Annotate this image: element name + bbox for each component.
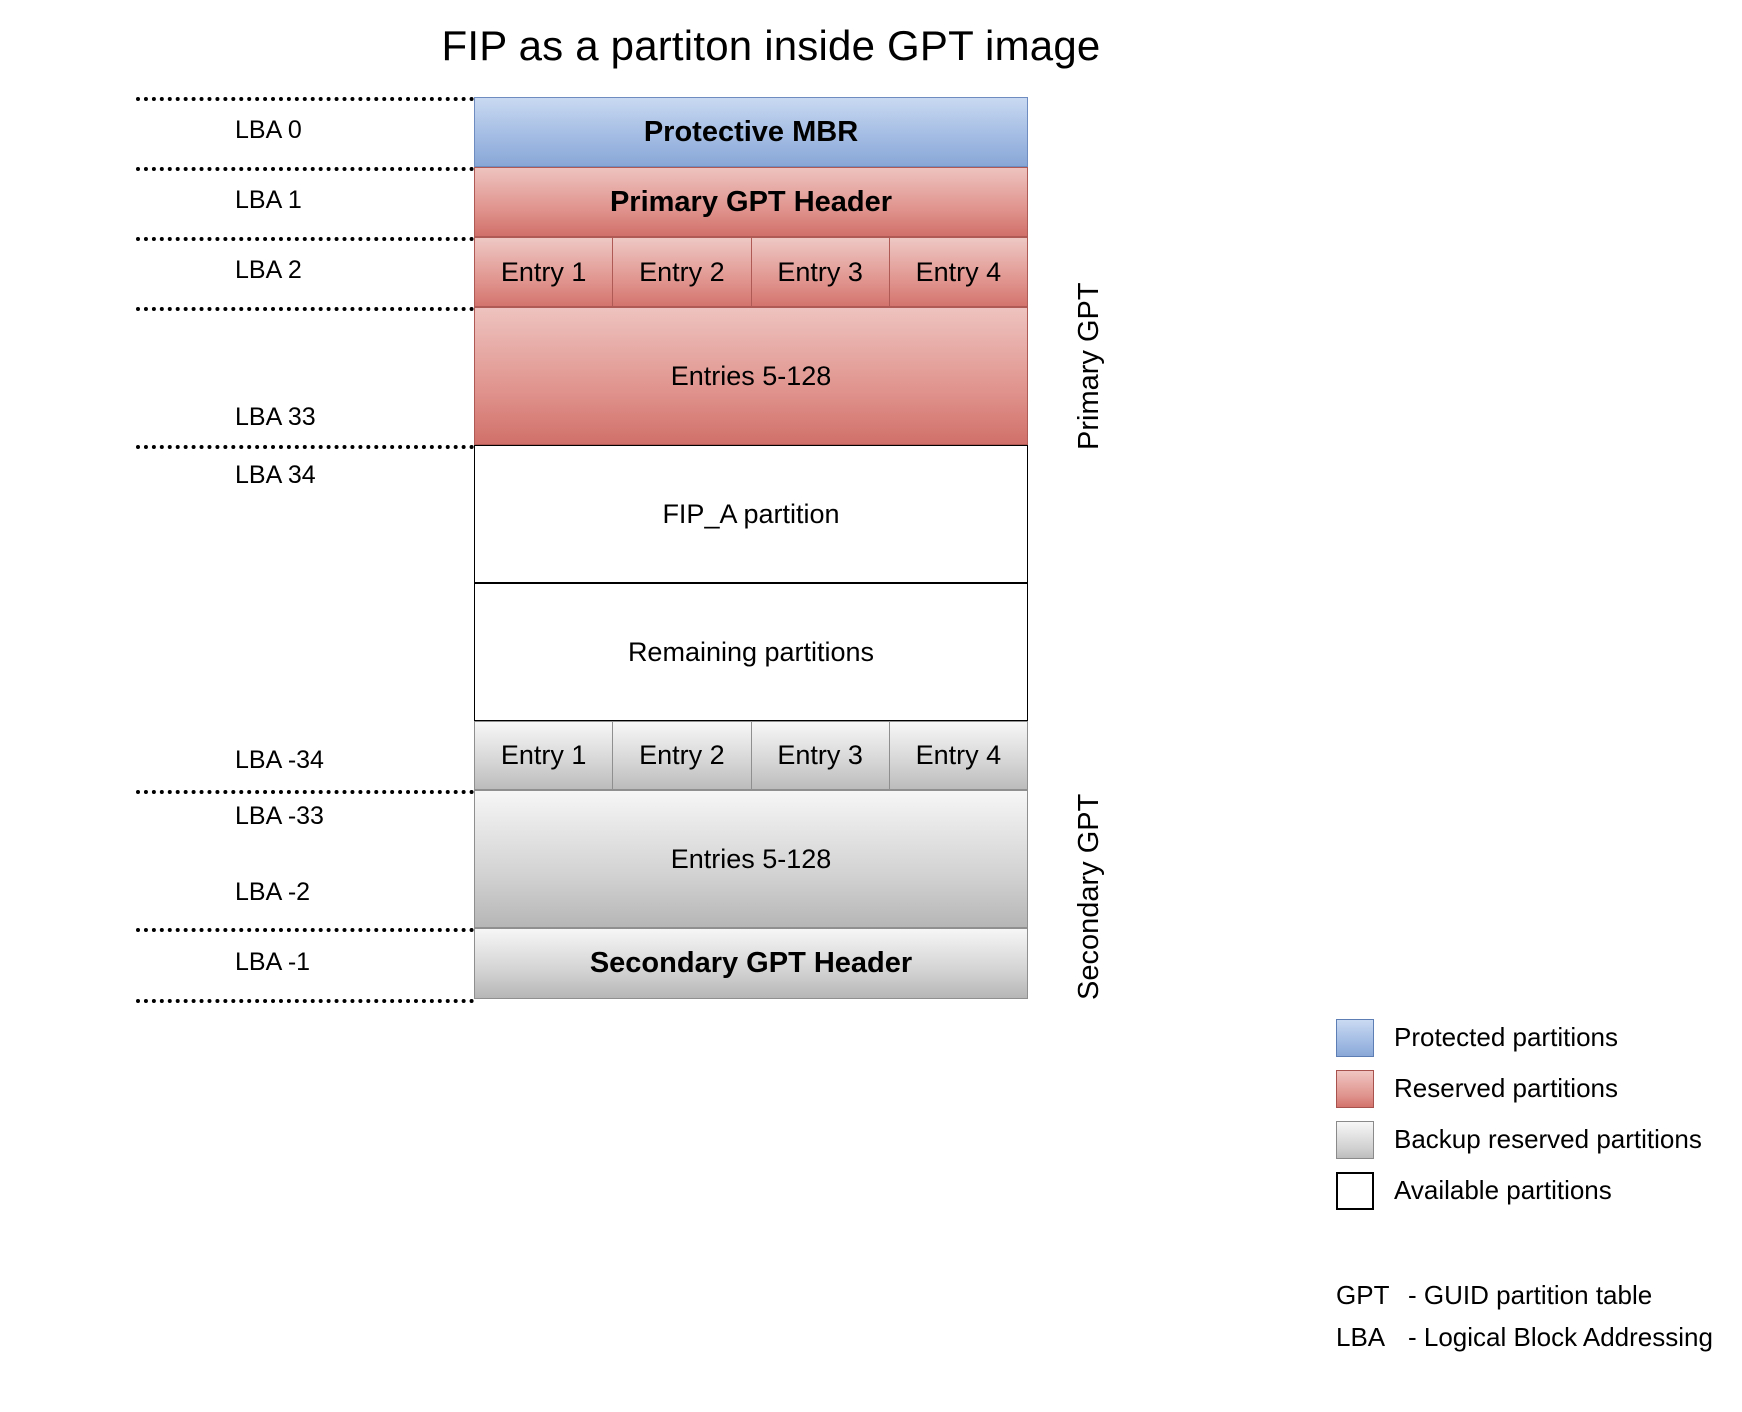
dotted-guide-line-3	[136, 307, 474, 311]
legend-swatch	[1336, 1172, 1374, 1210]
block-primary-gpt-header: Primary GPT Header	[474, 167, 1028, 237]
block-primary-entries-5-128: Entries 5-128	[474, 307, 1028, 445]
lba-label: LBA -2	[235, 880, 310, 905]
abbreviation-value: - GUID partition table	[1408, 1280, 1652, 1311]
entry-cell: Entry 4	[889, 721, 1028, 790]
dotted-guide-line-7	[136, 999, 474, 1003]
abbreviation-key: GPT	[1336, 1280, 1408, 1311]
dotted-guide-line-6	[136, 928, 474, 932]
block-secondary-entries-5-128: Entries 5-128	[474, 790, 1028, 928]
lba-label: LBA -1	[235, 950, 310, 975]
entry-cell: Entry 4	[889, 237, 1028, 307]
abbreviation-row: GPT- GUID partition table	[1336, 1274, 1713, 1316]
diagram-canvas: FIP as a partiton inside GPT image LBA 0…	[0, 0, 1742, 1412]
page-title: FIP as a partiton inside GPT image	[0, 22, 1542, 70]
dotted-guide-line-5	[136, 790, 474, 794]
legend-item: Protected partitions	[1336, 1012, 1702, 1063]
lba-label: LBA 2	[235, 258, 302, 283]
legend-swatch	[1336, 1019, 1374, 1057]
entry-cell: Entry 2	[612, 237, 750, 307]
entry-cell: Entry 3	[751, 237, 889, 307]
lba-label: LBA -33	[235, 804, 324, 829]
legend-label: Available partitions	[1394, 1175, 1612, 1206]
legend-label: Reserved partitions	[1394, 1073, 1618, 1104]
abbreviation-value: - Logical Block Addressing	[1408, 1322, 1713, 1353]
lba-label: LBA 34	[235, 463, 316, 488]
legend-item: Available partitions	[1336, 1165, 1702, 1216]
lba-label: LBA 1	[235, 188, 302, 213]
entry-cell: Entry 1	[474, 721, 612, 790]
abbreviation-key: LBA	[1336, 1322, 1408, 1353]
legend-item: Backup reserved partitions	[1336, 1114, 1702, 1165]
abbreviations-list: GPT- GUID partition tableLBA- Logical Bl…	[1336, 1274, 1713, 1358]
dotted-guide-line-0	[136, 97, 474, 101]
block-protective-mbr: Protective MBR	[474, 97, 1028, 167]
abbreviation-row: LBA- Logical Block Addressing	[1336, 1316, 1713, 1358]
entry-cell: Entry 2	[612, 721, 750, 790]
legend-swatch	[1336, 1070, 1374, 1108]
block-remaining-partitions: Remaining partitions	[474, 583, 1028, 721]
primary-entry-strip: Entry 1Entry 2Entry 3Entry 4	[474, 237, 1028, 307]
block-secondary-gpt-header: Secondary GPT Header	[474, 928, 1028, 999]
entry-cell: Entry 1	[474, 237, 612, 307]
legend-swatch	[1336, 1121, 1374, 1159]
dotted-guide-line-1	[136, 167, 474, 171]
secondary-entry-strip: Entry 1Entry 2Entry 3Entry 4	[474, 721, 1028, 790]
legend-label: Backup reserved partitions	[1394, 1124, 1702, 1155]
dotted-guide-line-4	[136, 445, 474, 449]
block-fip-a-partition: FIP_A partition	[474, 445, 1028, 583]
legend-label: Protected partitions	[1394, 1022, 1618, 1053]
lba-label: LBA 33	[235, 405, 316, 430]
legend-item: Reserved partitions	[1336, 1063, 1702, 1114]
legend: Protected partitionsReserved partitionsB…	[1336, 1012, 1702, 1216]
lba-label: LBA -34	[235, 748, 324, 773]
lba-label: LBA 0	[235, 118, 302, 143]
side-label-secondary-gpt: Secondary GPT	[1073, 794, 1106, 1000]
entry-cell: Entry 3	[751, 721, 889, 790]
side-label-primary-gpt: Primary GPT	[1073, 282, 1106, 450]
dotted-guide-line-2	[136, 237, 474, 241]
